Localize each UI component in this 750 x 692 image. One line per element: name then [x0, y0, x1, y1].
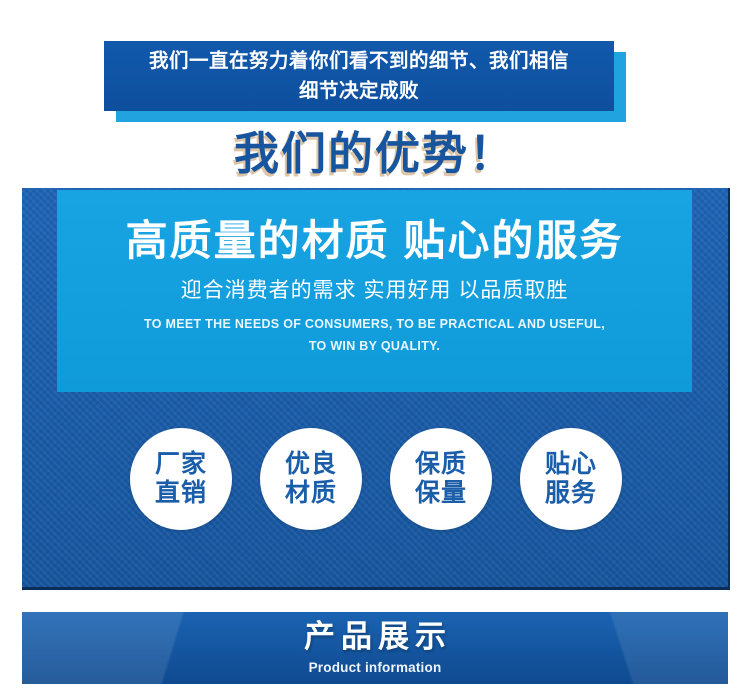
quality-subtitle-en-line-1: TO MEET THE NEEDS OF CONSUMERS, TO BE PR…	[57, 313, 692, 335]
ribbon-panel: 我们一直在努力着你们看不到的细节、我们相信 细节决定成败	[104, 41, 614, 111]
feature-badge-line-2: 材质	[285, 479, 337, 508]
page-title: 我们的优势！	[0, 125, 750, 183]
feature-badge-line-1: 厂家	[155, 450, 207, 479]
feature-badge-group: 厂家 直销 优良 材质 保质 保量 贴心 服务	[130, 428, 622, 530]
quality-subtitle-en: TO MEET THE NEEDS OF CONSUMERS, TO BE PR…	[57, 313, 692, 357]
footer-section-bar: 产品展示 Product information	[22, 612, 728, 684]
feature-badge[interactable]: 贴心 服务	[520, 428, 622, 530]
feature-badge[interactable]: 优良 材质	[260, 428, 362, 530]
quality-panel: 高质量的材质 贴心的服务 迎合消费者的需求 实用好用 以品质取胜 TO MEET…	[57, 190, 692, 392]
quality-subtitle-en-line-2: TO WIN BY QUALITY.	[57, 335, 692, 357]
feature-badge-line-2: 服务	[545, 479, 597, 508]
promo-banner-page: 我们一直在努力着你们看不到的细节、我们相信 细节决定成败 我们的优势！ 高质量的…	[0, 0, 750, 692]
ribbon-text: 我们一直在努力着你们看不到的细节、我们相信 细节决定成败	[149, 46, 569, 106]
quality-subtitle-cn: 迎合消费者的需求 实用好用 以品质取胜	[57, 274, 692, 308]
footer-title-cn: 产品展示	[298, 619, 452, 655]
footer-content: 产品展示 Product information	[22, 612, 728, 684]
feature-badge-line-1: 保质	[415, 450, 467, 479]
feature-badge-line-2: 保量	[415, 479, 467, 508]
feature-badge-line-1: 优良	[285, 450, 337, 479]
footer-title-en: Product information	[309, 658, 442, 678]
feature-badge-line-1: 贴心	[545, 450, 597, 479]
feature-badge-line-2: 直销	[155, 479, 207, 508]
feature-badge[interactable]: 厂家 直销	[130, 428, 232, 530]
feature-badge[interactable]: 保质 保量	[390, 428, 492, 530]
ribbon-line-1: 我们一直在努力着你们看不到的细节、我们相信	[149, 46, 569, 76]
quality-headline: 高质量的材质 贴心的服务	[57, 214, 692, 268]
ribbon-line-2: 细节决定成败	[149, 76, 569, 106]
headline-ribbon: 我们一直在努力着你们看不到的细节、我们相信 细节决定成败	[104, 41, 614, 111]
